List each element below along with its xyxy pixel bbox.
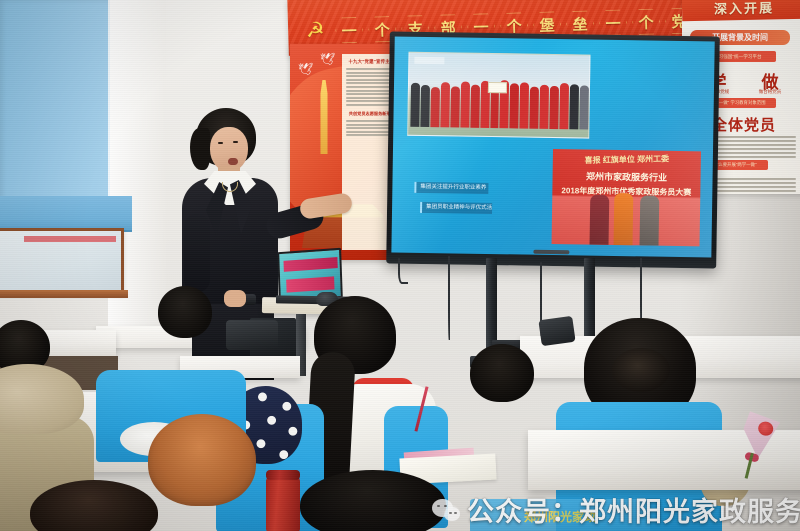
head (30, 480, 158, 531)
tv-brand-logo (533, 250, 569, 255)
poster-headline: 深入开展 (682, 0, 800, 21)
slogan-char: 个 (631, 7, 662, 36)
wechat-icon (432, 496, 460, 524)
window-sill (0, 290, 128, 298)
presentation-tv[interactable]: 喜报 红旗单位 郑州工委 郑州市家政服务行业 2018年度郑州市优秀家政服务员大… (386, 31, 720, 268)
audience-member (300, 470, 450, 531)
head (148, 414, 256, 506)
award-banner-line: 郑州市家政服务行业 (554, 169, 698, 184)
presenter-mouth (228, 158, 238, 165)
tv-cable (448, 256, 450, 340)
fur-hood (0, 364, 84, 434)
hair-bun (612, 348, 670, 392)
tv-bezel: 喜报 红旗单位 郑州工委 郑州市家政服务行业 2018年度郑州市优秀家政服务员大… (386, 31, 720, 268)
head (300, 470, 446, 531)
award-banner-line: 喜报 红旗单位 郑州工委 (557, 153, 697, 167)
party-emblem-icon: ☭ (302, 19, 329, 44)
slide-bullet: 集团关注提升行业职业素养 (414, 182, 488, 194)
chair-back (226, 320, 278, 350)
audience-member (150, 286, 220, 346)
window-curtain (0, 196, 132, 232)
red-thermos (266, 476, 300, 531)
window-decal (24, 236, 116, 242)
presenter-hair-side (190, 128, 210, 170)
slogan-char: 一 (598, 8, 629, 37)
presenter-eye (218, 142, 223, 144)
audience-member (470, 344, 540, 414)
slide-photo-award: 喜报 红旗单位 郑州工委 郑州市家政服务行业 2018年度郑州市优秀家政服务员大… (552, 149, 701, 246)
slide-bullet: 集团员职业精神与评优式活动等 (420, 202, 492, 214)
presenter-arm (184, 214, 210, 292)
head (470, 344, 534, 402)
presenter-hand (224, 290, 246, 307)
dove-icon: 🕊 (320, 52, 335, 66)
presenter-eye (233, 141, 238, 143)
head (158, 286, 212, 338)
tv-screen[interactable]: 喜报 红旗单位 郑州工委 郑州市家政服务行业 2018年度郑州市优秀家政服务员大… (391, 37, 714, 258)
award-certificate (488, 82, 507, 93)
photo-scene: ☭ 一 个 支 部 一 个 堡 垒 一 个 党 🕊 🕊 十九大"党建"宣传主题活… (0, 0, 800, 531)
poster-small-label: 做合格党员 (759, 89, 782, 95)
slide-photo-group (407, 52, 590, 139)
tv-cable (398, 258, 408, 284)
watermark: 公众号：郑州阳光家政服务公司 (432, 490, 800, 529)
audience-member (30, 480, 160, 531)
dove-icon: 🕊 (298, 62, 313, 76)
award-winners (590, 187, 663, 246)
watermark-text: 公众号：郑州阳光家政服务公司 (467, 490, 800, 529)
slogan-char: 一 (334, 16, 365, 45)
laptop-slide-band (286, 276, 334, 292)
photo-logo (414, 57, 444, 64)
laptop-slide-band (283, 257, 337, 272)
thermos-cap (266, 470, 300, 480)
